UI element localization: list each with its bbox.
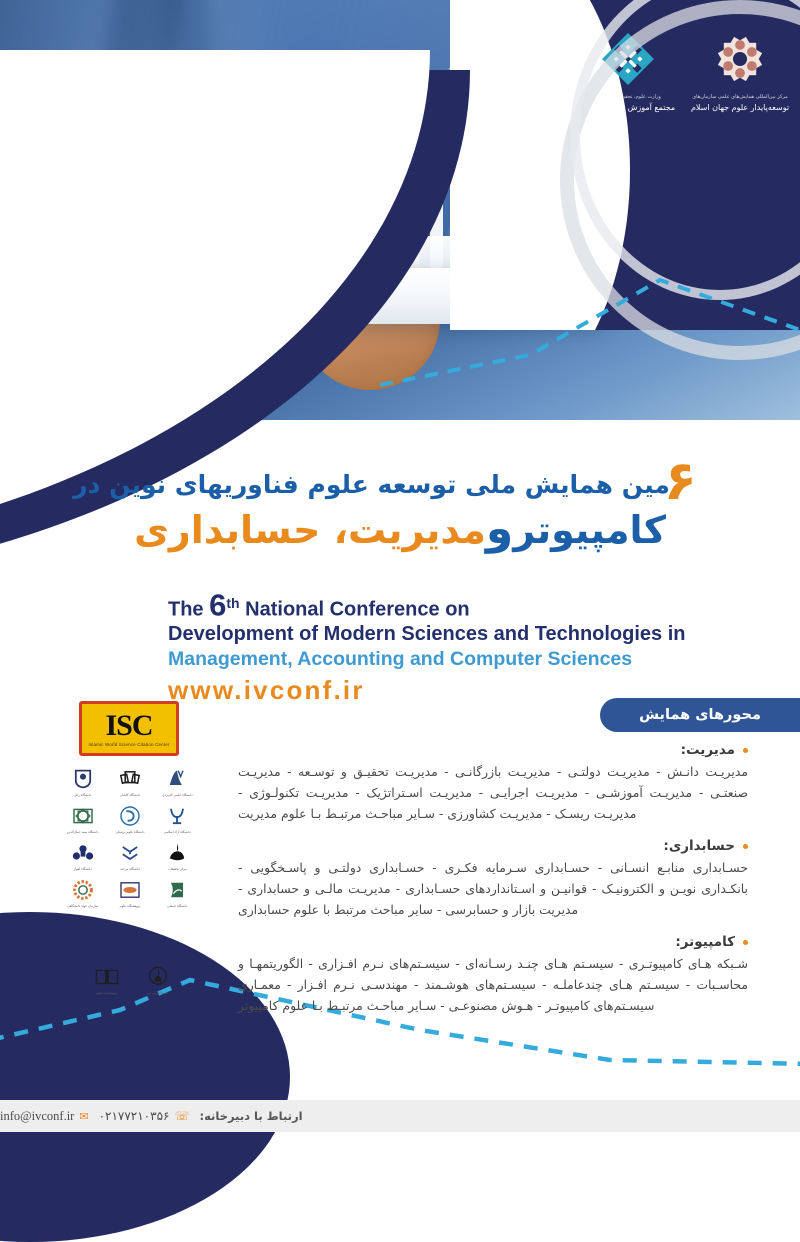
fa-title-subjects-a: مدیریت، حسابداری [134, 508, 486, 552]
sponsor-logo-item: دانشگاه زابل [61, 766, 105, 797]
sponsor-logo-item: دانشگاه علوم پزشکی [108, 803, 152, 834]
topic-management: مدیریت: مدیریـت دانـش - مدیریـت دولتـی -… [238, 742, 748, 824]
en-ordinal-suffix: th [226, 595, 239, 611]
fa-ordinal-number: ۶ [664, 449, 697, 512]
fa-title-conjunction: و [486, 503, 513, 554]
sponsor-name: مرکز تحقیقات [155, 867, 199, 871]
university-logo-2 [108, 766, 152, 792]
university-logo-9 [155, 840, 199, 866]
topic-heading: مدیریت: [238, 742, 748, 758]
isc-badge-subtitle: Islamic World Science Citation Center [88, 742, 169, 747]
university-logo-4 [61, 803, 105, 829]
university-logo-7 [61, 840, 105, 866]
bullet-dot-icon [743, 844, 748, 849]
footer-phone-group[interactable]: ☏ ۰۲۱۷۷۲۱۰۳۵۶ [99, 1109, 190, 1123]
sponsor-logo-item: دانشگاه پیام نور [136, 964, 180, 995]
topic-heading: کامپیوتر: [238, 934, 748, 950]
sponsor-name: دانشگاه صنعتی [155, 904, 199, 908]
footer-email: info@ivconf.ir [0, 1109, 74, 1124]
sponsor-name: دانشگاه علوم پزشکی [108, 830, 152, 834]
sponsor-name: پژوهشگاه علوم [108, 904, 152, 908]
university-logo-14 [136, 964, 180, 990]
topic-body: حسـابداری منابـع انسـانی - حسـابداری سـر… [238, 857, 748, 920]
topic-heading: حسابداری: [238, 838, 748, 854]
sponsor-name: دانشگاه آزاد اسلامی [155, 830, 199, 834]
university-logo-6 [155, 803, 199, 829]
isc-badge-text: ISC [105, 711, 152, 741]
university-logo-11 [108, 877, 152, 903]
fa-title-line1-text: مین همایش ملی توسعه علوم فناوریهای نوین … [73, 470, 670, 499]
sponsor-name: دانشگاه زابل [61, 793, 105, 797]
topic-body: شـبکه هـای کامپیوتـری - سیسـتم هـای چنـد… [238, 953, 748, 1016]
en-title-line2: Development of Modern Sciences and Techn… [168, 622, 688, 647]
sponsor-logo-item: دانشگاه کاشان [108, 766, 152, 797]
sponsor-name: دانشگاه اهواز [61, 867, 105, 871]
mail-icon: ✉ [79, 1110, 88, 1123]
university-logo-3 [155, 766, 199, 792]
sponsor-name: دانشگاه سید جمال‌الدین [61, 830, 105, 834]
sponsor-logo-item: دانشگاه سید جمال‌الدین [61, 803, 105, 834]
decor-dashed-line-top [380, 260, 800, 390]
topics-list: مدیریت: مدیریـت دانـش - مدیریـت دولتـی -… [238, 742, 748, 1030]
university-logo-5 [108, 803, 152, 829]
sponsor-logo-item: دانشگاه صنعتی [155, 877, 199, 908]
en-title-line3: Management, Accounting and Computer Scie… [168, 647, 688, 672]
university-logo-13 [85, 964, 129, 990]
sponsor-name: پژوهشکده علوم [85, 991, 129, 995]
en-title-block: The 6th National Conference on Developme… [168, 592, 688, 706]
sponsor-logo-item: دانشگاه علمی کاربردی [155, 766, 199, 797]
topic-heading-label: مدیریت: [681, 742, 735, 758]
footer-contact-label: ارتباط با دبیرخانه: [199, 1109, 302, 1123]
topic-heading-label: کامپیوتر: [675, 934, 735, 950]
footer-phone: ۰۲۱۷۷۲۱۰۳۵۶ [99, 1109, 170, 1123]
topic-computer: کامپیوتر: شـبکه هـای کامپیوتـری - سیسـتم… [238, 934, 748, 1016]
university-logo-1 [61, 766, 105, 792]
topic-heading-label: حسابداری: [663, 838, 735, 854]
fa-title-subjects-b: کامپیوتر [513, 508, 666, 552]
university-logo-12 [155, 877, 199, 903]
sponsor-logo-grid: دانشگاه زابل دانشگاه کاشان دانشگاه علمی … [60, 766, 200, 908]
sponsor-logo-item: پژوهشگاه علوم [108, 877, 152, 908]
sponsor-logo-item: دانشگاه اهواز [61, 840, 105, 871]
sponsor-logo-item: سازمان جهاد دانشگاهی [61, 877, 105, 908]
sponsor-logo-item: پژوهشکده علوم [85, 964, 129, 995]
phone-icon: ☏ [174, 1109, 189, 1123]
en-ordinal-number: 6 [209, 588, 226, 623]
en-title-line1-rest: National Conference on [245, 599, 469, 621]
university-logo-8 [108, 840, 152, 866]
sponsor-name: دانشگاه بیرجند [108, 867, 152, 871]
bullet-dot-icon [743, 940, 748, 945]
university-logo-10 [61, 877, 105, 903]
title-block: ۶مین همایش ملی توسعه علوم فناوریهای نوین… [0, 470, 800, 554]
sponsor-name: دانشگاه کاشان [108, 793, 152, 797]
sponsor-name: دانشگاه پیام نور [136, 991, 180, 995]
sponsor-logo-item: دانشگاه بیرجند [108, 840, 152, 871]
topics-header-bar: محورهای همایش [600, 698, 800, 732]
bullet-dot-icon [743, 748, 748, 753]
sponsor-logo-grid-2: پژوهشکده علوم دانشگاه پیام نور [82, 964, 182, 995]
isc-badge: ISC Islamic World Science Citation Cente… [79, 701, 179, 756]
en-the: The [168, 599, 204, 621]
en-title-line1: The 6th National Conference on [168, 592, 688, 622]
sponsor-logo-item: مرکز تحقیقات [155, 840, 199, 871]
topic-accounting: حسابداری: حسـابداری منابـع انسـانی - حسـ… [238, 838, 748, 920]
sponsor-name: دانشگاه علمی کاربردی [155, 793, 199, 797]
topic-body: مدیریـت دانـش - مدیریـت دولتـی - مدیریـت… [238, 761, 748, 824]
sponsor-logo-item: دانشگاه آزاد اسلامی [155, 803, 199, 834]
sponsor-name: سازمان جهاد دانشگاهی [61, 904, 105, 908]
footer-contact-bar: ارتباط با دبیرخانه: ☏ ۰۲۱۷۷۲۱۰۳۵۶ ✉ info… [0, 1100, 800, 1132]
footer-email-group[interactable]: ✉ info@ivconf.ir [0, 1109, 89, 1124]
fa-title-line1: ۶مین همایش ملی توسعه علوم فناوریهای نوین… [0, 470, 800, 499]
